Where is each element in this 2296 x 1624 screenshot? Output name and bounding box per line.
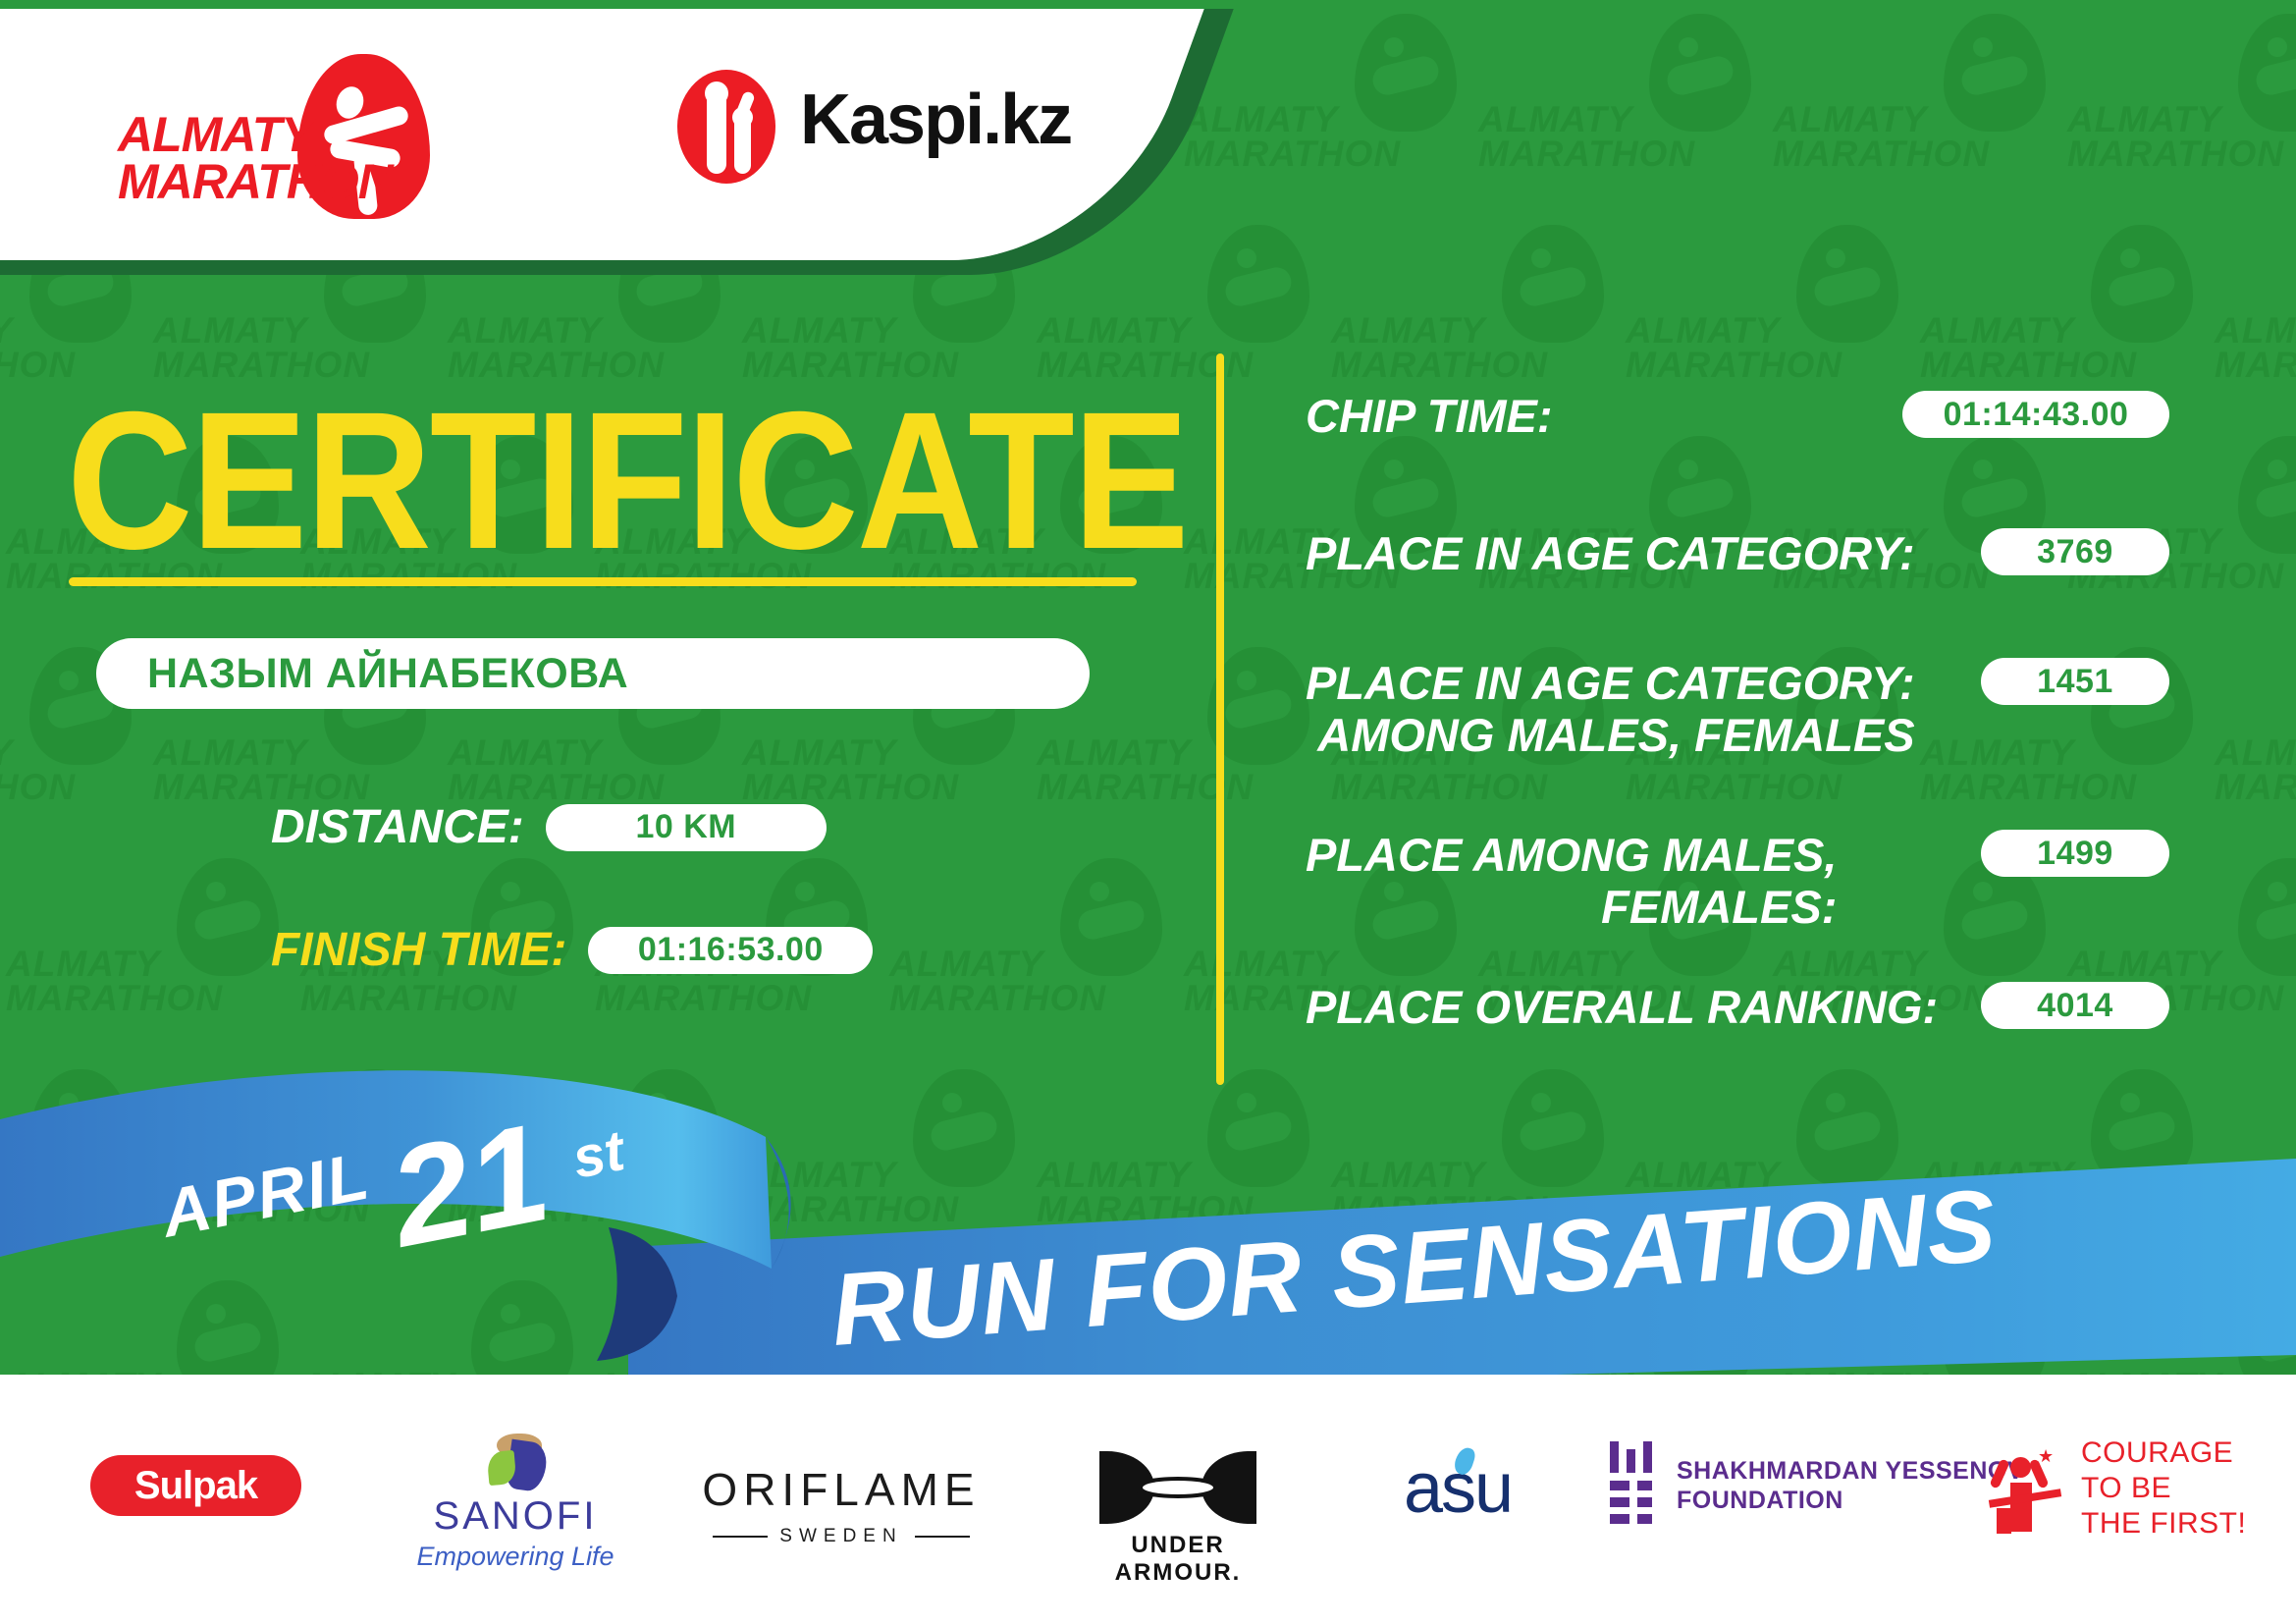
top-green-strip xyxy=(0,0,2296,9)
under-armour-wordmark: UNDER ARMOUR. xyxy=(1080,1532,1276,1587)
kaspi-wordmark: Kaspi.kz xyxy=(800,80,1071,160)
courage-line-3: THE FIRST! xyxy=(2081,1506,2246,1542)
place-among-sex-value: 1499 xyxy=(2037,835,2113,873)
place-overall-label: PLACE OVERALL RANKING: xyxy=(1306,982,1938,1034)
sponsor-logo-yessenov-foundation: SHAKHMARDAN YESSENOV FOUNDATION xyxy=(1610,1441,2024,1530)
place-age-category-among-sex-value: 1451 xyxy=(2037,663,2113,701)
asu-wordmark: asu xyxy=(1374,1453,1541,1524)
certificate-page: ALMATY MARATHONALMATY MARATHONALMATY MAR… xyxy=(0,0,2296,1624)
courage-line-2: TO BE xyxy=(2081,1471,2246,1506)
sponsor-logo-sanofi: SANOFI Empowering Life xyxy=(407,1434,623,1572)
finish-time-value-pill: 01:16:53.00 xyxy=(588,927,873,974)
header-content: ALMATY MARATHON Kaspi.kz xyxy=(0,0,1178,260)
sanofi-tagline: Empowering Life xyxy=(407,1542,623,1572)
oriflame-rule-right xyxy=(915,1536,970,1538)
participant-name-value: НАЗЫМ АЙНАБЕКОВА xyxy=(147,650,628,698)
oriflame-sub: SWEDEN xyxy=(699,1526,984,1547)
sponsor-band: Sulpak SANOFI Empowering Life ORIFLAME S… xyxy=(0,1375,2296,1624)
almaty-marathon-logo: ALMATY MARATHON xyxy=(118,54,442,211)
sponsor-logo-courage-fund: CORPORATE FUND ★ COURAGE TO BE THE FIRST… xyxy=(1973,1435,2246,1542)
chip-time-value: 01:14:43.00 xyxy=(1944,396,2129,434)
finish-time-label: FINISH TIME: xyxy=(271,923,566,977)
stat-row-place-age-category: PLACE IN AGE CATEGORY: 3769 xyxy=(1306,528,2169,580)
stat-row-place-among-sex: PLACE AMONG MALES, FEMALES: 1499 xyxy=(1306,830,2169,933)
sponsor-logo-asu: asu xyxy=(1374,1453,1541,1524)
almaty-marathon-wordmark: ALMATY MARATHON xyxy=(118,111,393,205)
place-age-category-label: PLACE IN AGE CATEGORY: xyxy=(1306,528,1915,580)
oriflame-sweden-text: SWEDEN xyxy=(779,1526,902,1547)
courage-line-1: COURAGE xyxy=(2081,1435,2246,1471)
place-age-category-among-sex-value-pill: 1451 xyxy=(1981,658,2169,705)
sponsor-logo-sulpak: Sulpak xyxy=(90,1455,301,1516)
finish-time-value: 01:16:53.00 xyxy=(638,931,824,969)
marathon-line: MARATHON xyxy=(118,158,393,205)
event-ribbon: APRIL 21 st RUN FOR SENSATIONS xyxy=(0,1060,2296,1394)
distance-value: 10 KM xyxy=(635,808,736,846)
sanofi-bird-icon xyxy=(471,1434,560,1489)
courage-runner-icon: CORPORATE FUND ★ xyxy=(1973,1439,2067,1538)
sulpak-wordmark: Sulpak xyxy=(134,1464,257,1508)
oriflame-wordmark: ORIFLAME xyxy=(699,1463,984,1516)
vertical-divider xyxy=(1216,353,1224,1085)
stat-row-finish-time: FINISH TIME: 01:16:53.00 xyxy=(271,923,873,977)
chip-time-value-pill: 01:14:43.00 xyxy=(1902,391,2169,438)
place-overall-value: 4014 xyxy=(2037,987,2113,1025)
distance-label: DISTANCE: xyxy=(271,800,524,854)
courage-wordmark: COURAGE TO BE THE FIRST! xyxy=(2081,1435,2246,1542)
participant-name-field: НАЗЫМ АЙНАБЕКОВА xyxy=(96,638,1090,709)
sponsor-logo-row: Sulpak SANOFI Empowering Life ORIFLAME S… xyxy=(0,1375,2296,1624)
title-underline xyxy=(69,577,1137,586)
sponsor-logo-under-armour: UNDER ARMOUR. xyxy=(1080,1451,1276,1587)
sanofi-wordmark: SANOFI xyxy=(407,1494,623,1539)
page-title: CERTIFICATE xyxy=(67,383,1188,578)
distance-value-pill: 10 KM xyxy=(546,804,827,851)
oriflame-rule-left xyxy=(713,1536,768,1538)
sulpak-pill: Sulpak xyxy=(90,1455,301,1516)
yessenov-bars-icon xyxy=(1610,1441,1659,1530)
kaspi-people-icon xyxy=(677,70,775,184)
place-age-category-value-pill: 3769 xyxy=(1981,528,2169,575)
place-overall-value-pill: 4014 xyxy=(1981,982,2169,1029)
place-among-sex-value-pill: 1499 xyxy=(1981,830,2169,877)
place-age-category-value: 3769 xyxy=(2037,533,2113,571)
chip-time-label: CHIP TIME: xyxy=(1306,391,1553,443)
place-age-category-among-sex-label: PLACE IN AGE CATEGORY: AMONG MALES, FEMA… xyxy=(1306,658,1915,761)
stat-row-distance: DISTANCE: 10 KM xyxy=(271,800,827,854)
sponsor-logo-oriflame: ORIFLAME SWEDEN xyxy=(699,1463,984,1547)
kaspi-logo: Kaspi.kz xyxy=(677,64,1099,191)
stat-row-chip-time: CHIP TIME: 01:14:43.00 xyxy=(1306,391,2169,443)
place-among-sex-label: PLACE AMONG MALES, FEMALES: xyxy=(1306,830,1837,933)
almaty-line: ALMATY xyxy=(118,111,393,158)
stat-row-place-age-category-among-sex: PLACE IN AGE CATEGORY: AMONG MALES, FEMA… xyxy=(1306,658,2169,761)
ribbon-day: 21 xyxy=(376,1094,561,1277)
under-armour-icon xyxy=(1099,1451,1256,1524)
stat-row-place-overall: PLACE OVERALL RANKING: 4014 xyxy=(1306,982,2169,1034)
